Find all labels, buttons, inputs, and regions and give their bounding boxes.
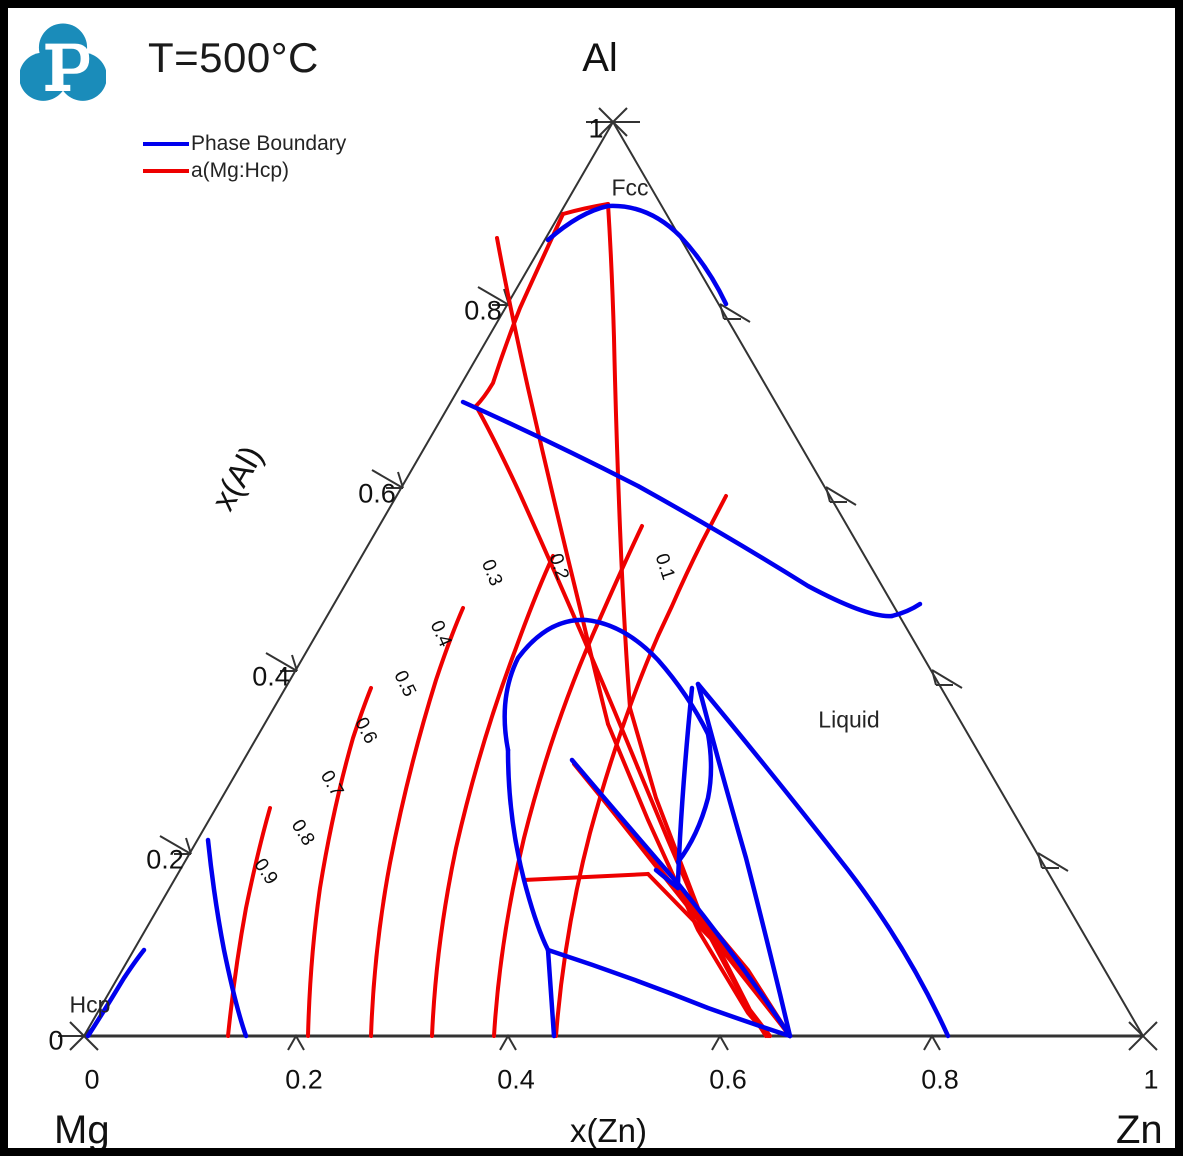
bottom-axis-ticks [288, 1036, 940, 1050]
contour-0.3-fan [638, 768, 766, 1036]
central-loop [505, 620, 708, 750]
contour-0.4 [556, 496, 726, 1036]
left-tick-0: 0 [48, 1026, 63, 1057]
axis-title-zn: x(Zn) [570, 1112, 647, 1148]
corner-label-al: Al [582, 36, 618, 81]
loop-stem [548, 950, 554, 1036]
phase-label-hcp: Hcp [70, 992, 111, 1019]
corner-label-zn: Zn [1116, 1108, 1163, 1148]
left-tick-0.6: 0.6 [358, 479, 396, 510]
corner-markers [58, 108, 1157, 1050]
bottom-tick-1: 1 [1143, 1065, 1158, 1096]
bottom-tick-0: 0 [84, 1065, 99, 1096]
left-tick-0.4: 0.4 [252, 662, 290, 693]
contour-0.7 [371, 608, 463, 1036]
fcc-dome [548, 206, 726, 304]
bottom-tick-0.2: 0.2 [285, 1065, 323, 1096]
figure-border: T=500°C Phase Boundary a(Mg:Hcp) [0, 0, 1183, 1156]
bottom-tick-0.6: 0.6 [709, 1065, 747, 1096]
phase-label-fcc: Fcc [611, 175, 648, 202]
triangle-axes [84, 122, 1143, 1036]
right-axis-ticks [720, 304, 1068, 871]
left-tick-0.8: 0.8 [464, 296, 502, 327]
bottom-tick-0.4: 0.4 [497, 1065, 535, 1096]
tie-line-horizontal [524, 874, 648, 880]
bottom-tick-0.8: 0.8 [921, 1065, 959, 1096]
left-tick-0.2: 0.2 [146, 845, 184, 876]
phase-boundaries [88, 206, 948, 1036]
ternary-diagram-canvas: T=500°C Phase Boundary a(Mg:Hcp) [8, 8, 1175, 1148]
phase-label-liquid: Liquid [818, 707, 879, 734]
ternary-plot [8, 8, 1175, 1148]
narrow-wedge-left [678, 688, 692, 888]
left-tick-1: 1 [588, 114, 603, 145]
corner-label-mg: Mg [54, 1108, 110, 1148]
activity-contours [228, 204, 790, 1036]
